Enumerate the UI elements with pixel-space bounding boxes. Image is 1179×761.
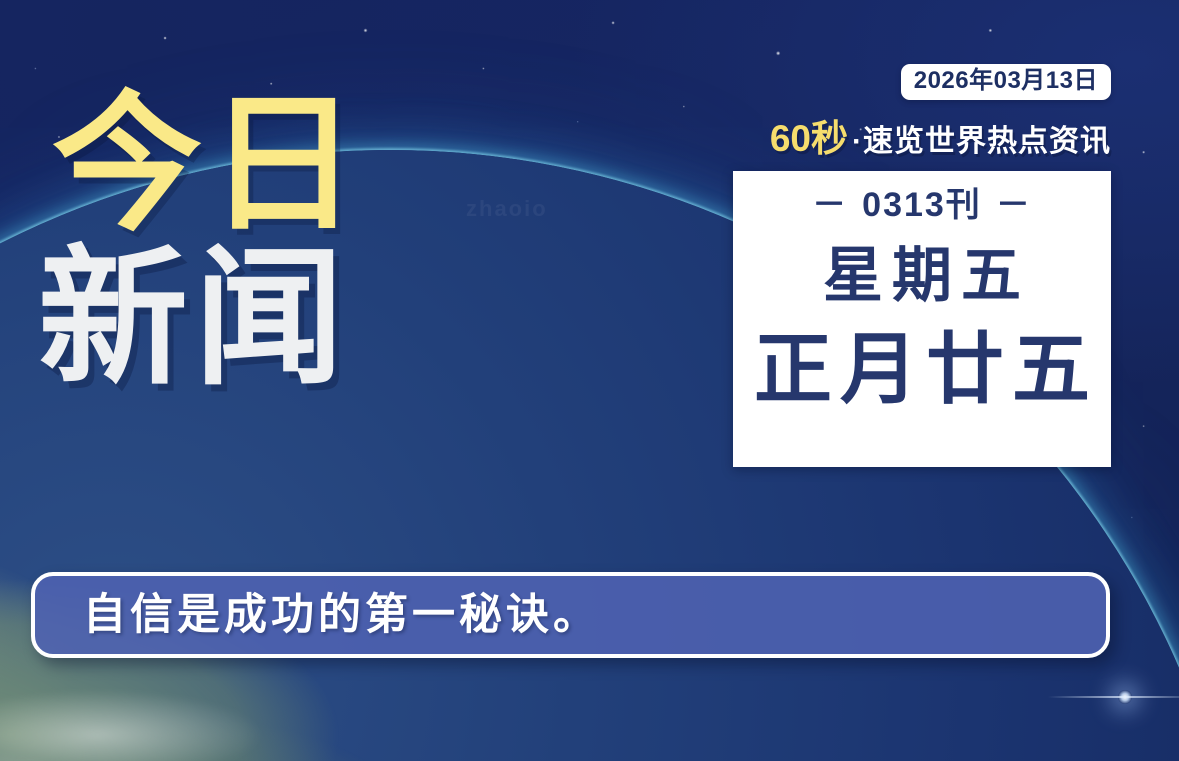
date-badge: 2026年03月13日 — [901, 64, 1111, 100]
tagline-seconds: 60秒 — [770, 118, 848, 159]
lens-flare-star-icon — [1118, 690, 1132, 704]
issue-number: 0313刊 — [862, 186, 982, 224]
quote-text: 自信是成功的第一秘诀。 — [83, 594, 600, 637]
weekday-label: 星期五 — [733, 246, 1111, 306]
page-title: 今日 新闻 — [52, 92, 472, 390]
tagline: 60秒·速览世界热点资讯 — [733, 120, 1111, 157]
quote-bar: 自信是成功的第一秘诀。 — [31, 572, 1110, 658]
tagline-subtitle: ·速览世界热点资讯 — [852, 125, 1111, 158]
issue-info-card: －0313刊－ 星期五 正月廿五 — [733, 171, 1111, 467]
issue-line: －0313刊－ — [733, 187, 1111, 224]
issue-dash-left: － — [798, 186, 862, 224]
lunar-date-label: 正月廿五 — [733, 330, 1111, 408]
watermark-text: zhaoio — [466, 196, 548, 222]
right-column: 2026年03月13日 60秒·速览世界热点资讯 －0313刊－ 星期五 正月廿… — [733, 64, 1111, 467]
poster-stage: zhaoio 今日 新闻 2026年03月13日 60秒·速览世界热点资讯 －0… — [0, 0, 1179, 761]
issue-dash-right: － — [982, 186, 1046, 224]
headline-line-today: 今日 — [52, 92, 472, 236]
headline-line-news: 新闻 — [38, 246, 472, 390]
